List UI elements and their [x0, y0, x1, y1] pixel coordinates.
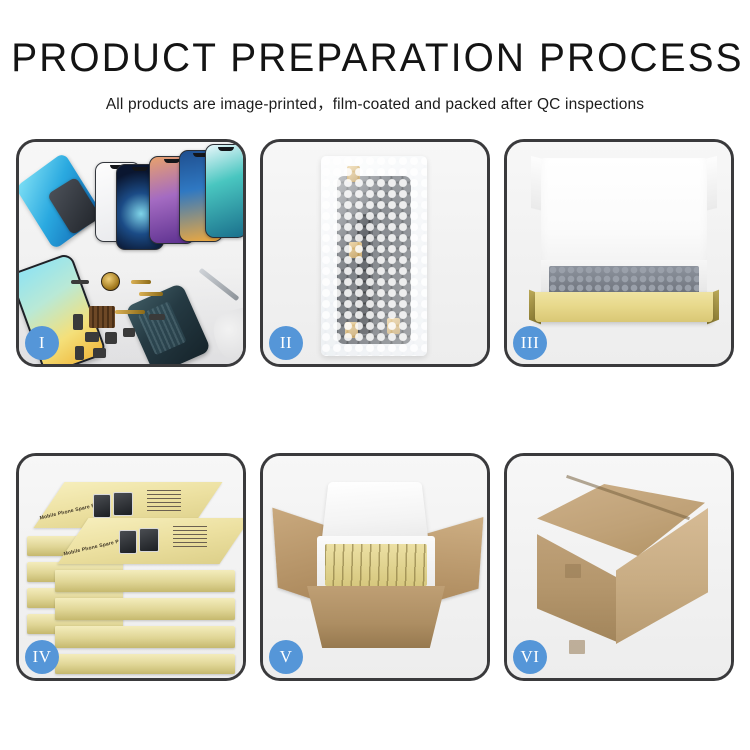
- sim-tray-icon: [123, 328, 135, 337]
- label-text-lines: [173, 526, 207, 548]
- phone-notch-icon: [132, 167, 148, 171]
- flex-cable-icon: [139, 292, 163, 296]
- badge-step-2: II: [269, 326, 303, 360]
- vibrator-icon: [105, 332, 117, 344]
- product-preparation-infographic: PRODUCT PREPARATION PROCESS All products…: [0, 0, 750, 750]
- product-photo-icon: [113, 492, 133, 516]
- badge-step-6: VI: [513, 640, 547, 674]
- badge-step-4: IV: [25, 640, 59, 674]
- box-front-panel-icon: [535, 292, 713, 322]
- badge-step-1: I: [25, 326, 59, 360]
- step-card-5: V: [260, 453, 490, 681]
- carton-tape-icon: [569, 640, 585, 654]
- process-step-grid: I II: [16, 139, 734, 681]
- product-photo-icon: [119, 530, 137, 554]
- ribbon-cable-icon: [115, 310, 145, 314]
- product-photo-icon: [93, 494, 111, 518]
- carton-body-icon: [307, 586, 445, 648]
- antenna-icon: [149, 314, 165, 320]
- spare-parts-cluster: [79, 270, 209, 364]
- box-side: [55, 626, 235, 648]
- box-stack: Mobile Phone Spare Parts Mobile Phone Sp…: [27, 478, 239, 674]
- plastic-sheen: [321, 156, 427, 356]
- step-card-3: III: [504, 139, 734, 367]
- carton-tape-icon: [565, 564, 581, 578]
- phone-notch-icon: [164, 159, 180, 163]
- stacked-box: [55, 598, 235, 620]
- earpiece-mesh-icon: [71, 280, 89, 284]
- connector-icon: [73, 314, 83, 330]
- box-side: [55, 654, 235, 674]
- badge-step-3: III: [513, 326, 547, 360]
- step-card-2: II: [260, 139, 490, 367]
- circuit-board-icon: [89, 306, 115, 328]
- label-text-lines: [147, 490, 181, 512]
- step-card-4: Mobile Phone Spare Parts Mobile Phone Sp…: [16, 453, 246, 681]
- box-side: [55, 570, 235, 592]
- stacked-box: [55, 626, 235, 648]
- button-icon: [75, 346, 84, 360]
- box-lid-icon: [541, 158, 707, 276]
- flex-cable-icon: [131, 280, 151, 284]
- badge-step-5: V: [269, 640, 303, 674]
- screw-set-icon: [93, 348, 106, 358]
- step-card-1: I: [16, 139, 246, 367]
- phone-notch-icon: [218, 147, 234, 151]
- page-title: PRODUCT PREPARATION PROCESS: [11, 38, 739, 78]
- box-side: [55, 598, 235, 620]
- bubble-wrap-bag-icon: [321, 156, 427, 356]
- step-card-6: VI: [504, 453, 734, 681]
- page-subtitle: All products are image-printed，film-coat…: [0, 92, 750, 114]
- speaker-coil-icon: [101, 272, 120, 291]
- packed-boxes-icon: [325, 544, 427, 586]
- stacked-box: [55, 570, 235, 592]
- camera-module-icon: [85, 332, 99, 342]
- phone-teal-icon: [205, 144, 243, 238]
- header: PRODUCT PREPARATION PROCESS All products…: [0, 0, 750, 114]
- bubble-wrapped-contents-icon: [549, 266, 699, 294]
- product-photo-icon: [139, 528, 159, 552]
- stacked-box: [55, 654, 235, 674]
